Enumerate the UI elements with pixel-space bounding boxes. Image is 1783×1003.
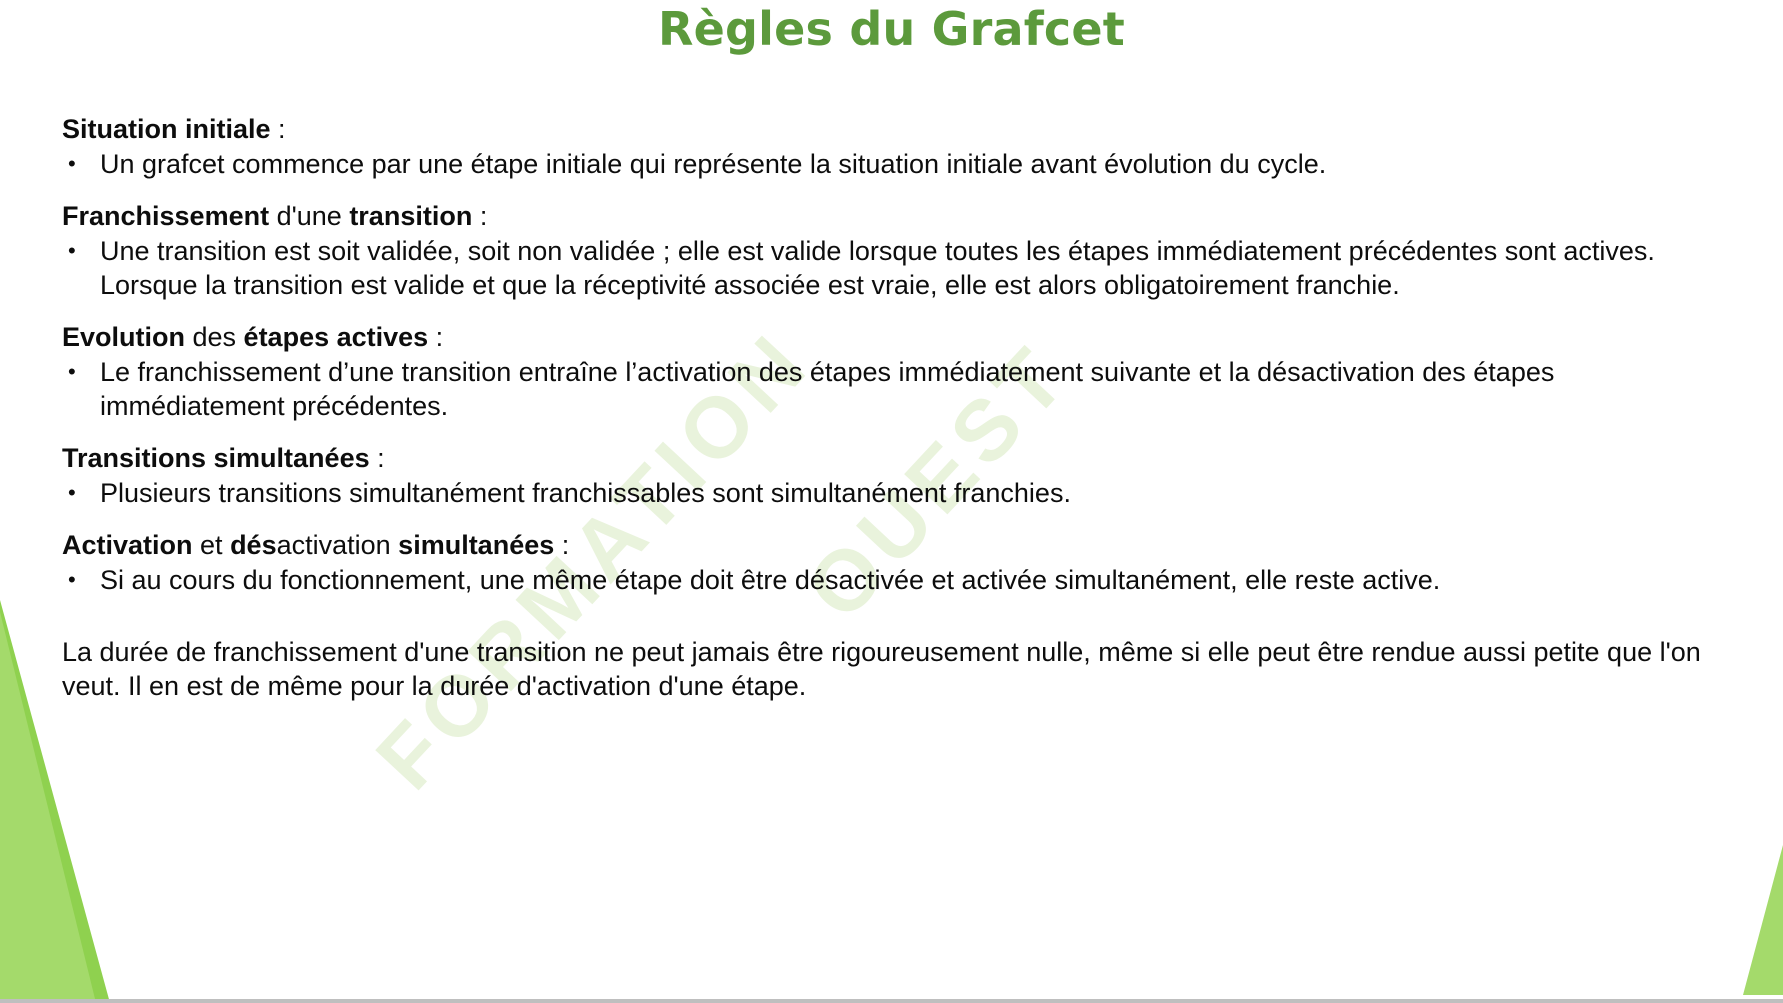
page-title: Règles du Grafcet (0, 2, 1783, 56)
closing-paragraph: La durée de franchissement d'une transit… (62, 635, 1722, 703)
section-heading: Activation et désactivation simultanées … (62, 528, 1722, 562)
section-heading: Evolution des étapes actives : (62, 320, 1722, 354)
bullet-icon: • (62, 234, 100, 268)
section-heading: Franchissement d'une transition : (62, 199, 1722, 233)
slide-canvas: FORMATION OUEST Règles du Grafcet Situat… (0, 0, 1783, 1003)
section-situation-initiale: Situation initiale : • Un grafcet commen… (62, 112, 1722, 181)
green-wedge-right-icon (1743, 845, 1783, 995)
list-item-text: Plusieurs transitions simultanément fran… (100, 476, 1722, 510)
list-item: • Plusieurs transitions simultanément fr… (62, 476, 1722, 510)
list-item: • Une transition est soit validée, soit … (62, 234, 1722, 302)
bullet-icon: • (62, 563, 100, 597)
paragraph-spacer (62, 615, 1722, 635)
section-activation-desactivation-simultanees: Activation et désactivation simultanées … (62, 528, 1722, 597)
section-heading: Situation initiale : (62, 112, 1722, 146)
slide-body: Situation initiale : • Un grafcet commen… (62, 112, 1722, 703)
bullet-icon: • (62, 147, 100, 181)
list-item: • Si au cours du fonctionnement, une mêm… (62, 563, 1722, 597)
list-item-text: Le franchissement d’une transition entra… (100, 355, 1722, 423)
section-transitions-simultanees: Transitions simultanées : • Plusieurs tr… (62, 441, 1722, 510)
list-item: • Le franchissement d’une transition ent… (62, 355, 1722, 423)
section-evolution-etapes-actives: Evolution des étapes actives : • Le fran… (62, 320, 1722, 423)
section-heading: Transitions simultanées : (62, 441, 1722, 475)
bullet-icon: • (62, 476, 100, 510)
section-franchissement-transition: Franchissement d'une transition : • Une … (62, 199, 1722, 302)
list-item: • Un grafcet commence par une étape init… (62, 147, 1722, 181)
list-item-text: Un grafcet commence par une étape initia… (100, 147, 1722, 181)
list-item-text: Une transition est soit validée, soit no… (100, 234, 1722, 302)
list-item-text: Si au cours du fonctionnement, une même … (100, 563, 1722, 597)
bullet-icon: • (62, 355, 100, 389)
